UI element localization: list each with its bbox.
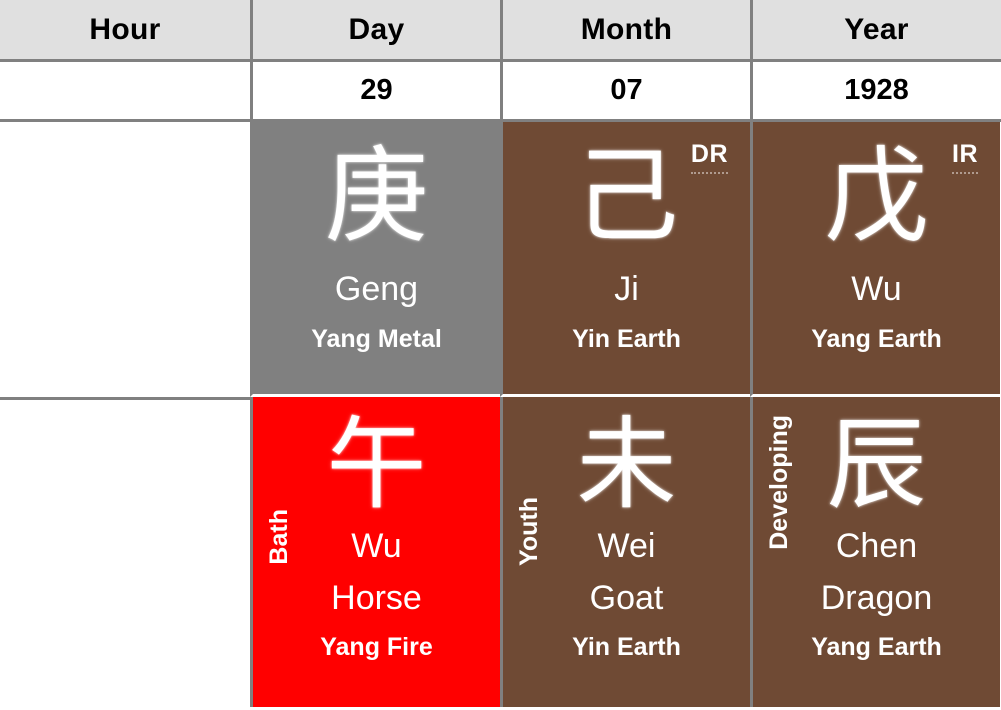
pillar-header-label-month: Month [581,13,672,47]
pillar-header-row: Hour Day Month Year [0,0,1001,62]
heavenly-stem-row: 庚 Geng Yang Metal DR 己 Ji Yin Earth IR 戊… [0,122,1001,397]
stem-element-month: Yin Earth [572,326,681,352]
ten-god-underline-month [691,172,728,174]
branch-character-month: 未 [577,415,677,515]
ten-god-label-month: DR [691,140,728,168]
ten-god-underline-year [952,172,978,174]
date-value-row: 29 07 1928 [0,62,1001,122]
branch-cell-month[interactable]: Youth 未 Wei Goat Yin Earth [500,397,750,707]
stem-element-year: Yang Earth [811,326,942,352]
branch-animal-year: Dragon [821,581,933,617]
branch-element-month: Yin Earth [572,634,681,660]
header-cell-month[interactable]: Month [500,0,750,59]
stem-character-year: 戊 [824,144,928,248]
pillar-header-label-year: Year [844,13,909,47]
ten-god-badge-year[interactable]: IR [952,142,978,174]
date-cell-year[interactable]: 1928 [750,62,1000,119]
ten-god-badge-month[interactable]: DR [691,142,728,174]
life-stage-label-year: Developing [767,415,792,550]
life-stage-label-day: Bath [267,509,292,565]
date-value-day: 29 [360,74,392,107]
ten-god-label-year: IR [952,140,978,168]
branch-element-day: Yang Fire [320,634,433,660]
branch-character-day: 午 [327,415,427,515]
stem-pinyin-month: Ji [614,272,639,308]
stem-character-month: 己 [574,144,678,248]
stem-element-day: Yang Metal [311,326,442,352]
branch-cell-year[interactable]: Developing 辰 Chen Dragon Yang Earth [750,397,1000,707]
branch-character-year: 辰 [827,415,927,515]
header-cell-hour[interactable]: Hour [0,0,250,59]
stem-pinyin-day: Geng [335,272,418,308]
branch-cell-day[interactable]: Bath 午 Wu Horse Yang Fire [250,397,500,707]
stem-cell-month[interactable]: DR 己 Ji Yin Earth [500,122,750,397]
branch-pinyin-year: Chen [836,529,917,565]
branch-animal-month: Goat [590,581,664,617]
date-value-year: 1928 [844,74,909,107]
stem-character-day: 庚 [324,144,428,248]
branch-animal-day: Horse [331,581,422,617]
date-cell-hour[interactable] [0,62,250,119]
bazi-chart-table: Hour Day Month Year 29 07 1928 庚 [0,0,1001,710]
pillar-header-label-day: Day [349,13,405,47]
header-cell-year[interactable]: Year [750,0,1000,59]
date-value-month: 07 [610,74,642,107]
life-stage-label-month: Youth [517,497,542,566]
stem-cell-year[interactable]: IR 戊 Wu Yang Earth [750,122,1000,397]
branch-cell-hour[interactable] [0,397,250,707]
date-cell-month[interactable]: 07 [500,62,750,119]
branch-element-year: Yang Earth [811,634,942,660]
branch-pinyin-month: Wei [598,529,656,565]
date-cell-day[interactable]: 29 [250,62,500,119]
branch-pinyin-day: Wu [351,529,401,565]
earthly-branch-row: Bath 午 Wu Horse Yang Fire Youth 未 Wei Go… [0,397,1001,707]
pillar-header-label-hour: Hour [89,13,160,47]
stem-cell-hour[interactable] [0,122,250,397]
stem-pinyin-year: Wu [851,272,901,308]
stem-cell-day[interactable]: 庚 Geng Yang Metal [250,122,500,397]
header-cell-day[interactable]: Day [250,0,500,59]
